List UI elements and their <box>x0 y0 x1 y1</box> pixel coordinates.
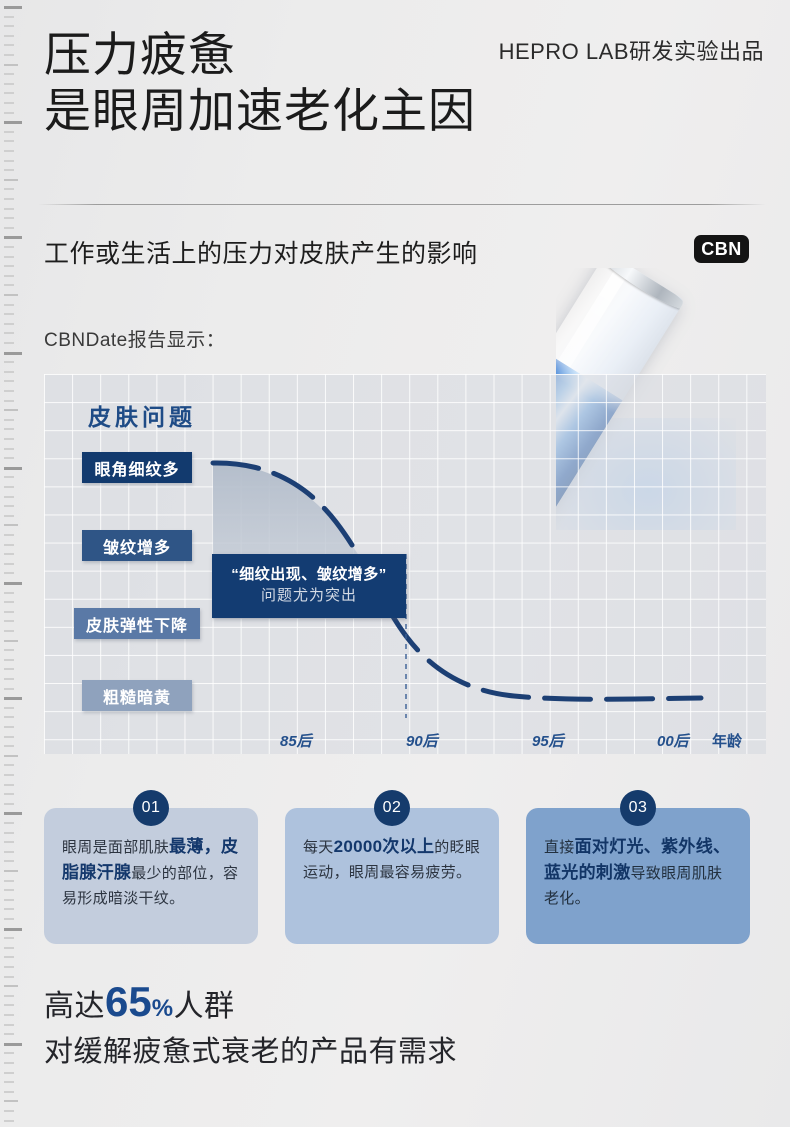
x-tick-2: 95后 <box>532 730 564 751</box>
y-category-2: 皮肤弹性下降 <box>74 608 200 639</box>
subheading: 工作或生活上的压力对皮肤产生的影响 <box>44 234 478 270</box>
y-category-3: 粗糙暗黄 <box>82 680 192 711</box>
fact-card-01: 01 眼周是面部肌肤最薄，皮脂腺汗腺最少的部位，容易形成暗淡干纹。 <box>44 808 258 944</box>
skin-problem-chart: 皮肤问题 眼角细纹多 皱纹增多 皮肤弹性下降 粗糙暗黄 “细纹出现、皱纹增多” … <box>44 374 766 754</box>
x-tick-3: 00后 <box>657 730 689 751</box>
page-title: 压力疲惫 是眼周加速老化主因 <box>44 28 564 140</box>
y-category-0: 眼角细纹多 <box>82 452 192 483</box>
x-axis-label: 年龄 <box>712 730 742 751</box>
x-tick-0: 85后 <box>280 730 312 751</box>
card-number-badge: 01 <box>133 790 169 826</box>
header-divider <box>38 204 766 205</box>
card-body: 直接面对灯光、紫外线、蓝光的刺激导致眼周肌肤老化。 <box>544 834 734 911</box>
chart-annotation: “细纹出现、皱纹增多” 问题尤为突出 <box>212 554 406 618</box>
fact-card-02: 02 每天20000次以上的眨眼运动，眼周最容易疲劳。 <box>285 808 499 944</box>
lab-credit: HEPRO LAB研发实验出品 <box>499 34 764 66</box>
cbn-badge: CBN <box>694 235 749 263</box>
y-category-1: 皱纹增多 <box>82 530 192 561</box>
title-line-1: 压力疲惫 <box>44 28 564 84</box>
footer-stat-line: 高达 65 % 人群 <box>44 978 235 1026</box>
left-ruler <box>0 0 26 1127</box>
card-number-badge: 03 <box>620 790 656 826</box>
card-body: 每天20000次以上的眨眼运动，眼周最容易疲劳。 <box>303 834 483 885</box>
footer-value: 65 <box>105 978 152 1026</box>
annotation-line-1: “细纹出现、皱纹增多” <box>231 565 387 585</box>
fact-card-03: 03 直接面对灯光、紫外线、蓝光的刺激导致眼周肌肤老化。 <box>526 808 750 944</box>
tube-rim <box>594 268 685 315</box>
footer-suffix: 人群 <box>174 981 235 1025</box>
report-source-note: CBNDate报告显示： <box>44 325 225 352</box>
title-line-2: 是眼周加速老化主因 <box>44 84 564 140</box>
poster-root: 压力疲惫 是眼周加速老化主因 HEPRO LAB研发实验出品 工作或生活上的压力… <box>0 0 790 1127</box>
card-number-badge: 02 <box>374 790 410 826</box>
footer-line-2: 对缓解疲惫式衰老的产品有需求 <box>44 1028 457 1070</box>
footer-percent: % <box>152 995 174 1023</box>
footer-prefix: 高达 <box>44 981 105 1025</box>
card-body: 眼周是面部肌肤最薄，皮脂腺汗腺最少的部位，容易形成暗淡干纹。 <box>62 834 242 911</box>
annotation-line-2: 问题尤为突出 <box>261 585 357 607</box>
x-tick-1: 90后 <box>406 730 438 751</box>
chart-title: 皮肤问题 <box>88 398 196 432</box>
